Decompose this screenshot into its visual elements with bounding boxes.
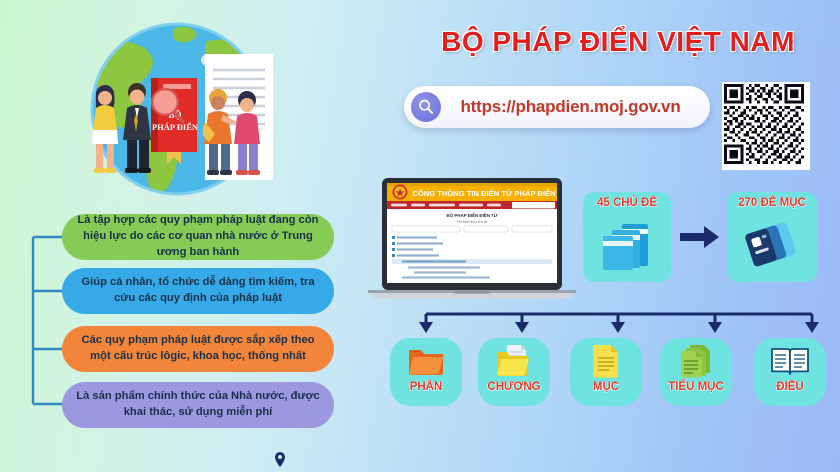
laptop-portal-mockup[interactable]: CỔNG THÔNG TIN ĐIỆN TỬ PHÁP ĐIỂN BỘ PHÁP… [366,176,578,306]
structure-item-muc[interactable]: MỤC [570,338,642,406]
structure-label-dieu: ĐIỀU [776,381,803,393]
structure-label-tieu-muc: TIỂU MỤC [668,381,724,393]
transform-arrow-icon [678,222,722,252]
open-book-icon [770,341,810,381]
structure-label-phan: PHẦN [410,381,443,393]
bottom-bracket-connector [400,306,838,340]
search-icon [411,92,441,122]
left-bracket-connector [18,228,68,413]
structure-item-dieu[interactable]: ĐIỀU [754,338,826,406]
svg-text:PHÁP ĐIỂN: PHÁP ĐIỂN [152,122,199,132]
structure-item-phan[interactable]: PHẦN [390,338,462,406]
qr-code-icon[interactable] [722,82,810,170]
structure-label-muc: MỤC [593,381,619,393]
structure-item-chuong[interactable]: CHƯƠNG [478,338,550,406]
feature-pill-3[interactable]: Các quy phạm pháp luật được sắp xếp theo… [62,326,334,372]
stacked-books-icon [583,209,671,282]
topic-card-items[interactable]: 270 ĐỀ MỤC [727,192,817,282]
page-title: BỘ PHÁP ĐIỂN VIỆT NAM [398,26,838,58]
svg-text:Tìm kiếm theo chủ đề: Tìm kiếm theo chủ đề [457,220,488,224]
feature-pill-1[interactable]: Là tập hợp các quy phạm pháp luật đang c… [62,214,334,260]
feature-pill-2[interactable]: Giúp cá nhân, tổ chức dễ dàng tìm kiếm, … [62,268,334,314]
location-pin-icon [274,452,286,467]
structure-label-chuong: CHƯƠNG [487,381,540,393]
topic-label-items: 270 ĐỀ MỤC [738,197,806,209]
yellow-folder-document-icon [495,341,533,381]
topic-label-subjects: 45 CHỦ ĐỀ [597,197,657,209]
infographic-canvas: BỘ PHÁP ĐIỂN [0,0,840,472]
stacked-cards-icon [727,209,817,282]
svg-text:BỘ PHÁP ĐIỂN ĐIỆN TỬ: BỘ PHÁP ĐIỂN ĐIỆN TỬ [447,213,498,218]
green-documents-stack-icon [678,341,714,381]
orange-folder-icon [407,341,445,381]
url-bar[interactable]: https://phapdien.moj.gov.vn [404,86,710,128]
url-text: https://phapdien.moj.gov.vn [441,97,710,117]
feature-pill-4[interactable]: Là sản phẩm chính thức của Nhà nước, đượ… [62,382,334,428]
globe-people-illustration: BỘ PHÁP ĐIỂN [55,22,300,197]
structure-item-tieu-muc[interactable]: TIỂU MỤC [660,338,732,406]
yellow-document-icon [591,341,621,381]
svg-text:CỔNG THÔNG TIN ĐIỆN TỬ PHÁP ĐI: CỔNG THÔNG TIN ĐIỆN TỬ PHÁP ĐIỂN [412,189,555,198]
topic-card-subjects[interactable]: 45 CHỦ ĐỀ [583,192,671,282]
